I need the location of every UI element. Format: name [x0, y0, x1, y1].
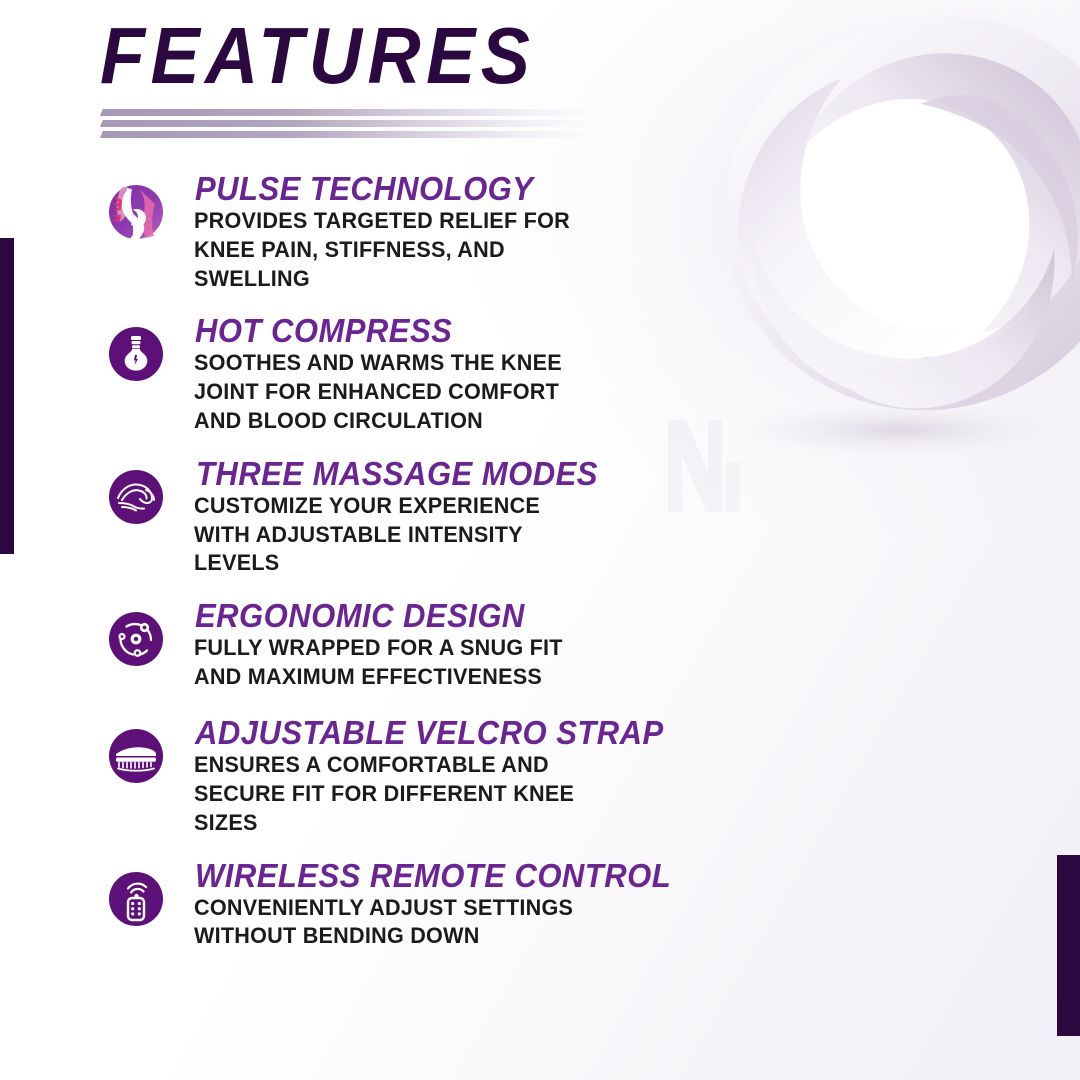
feature-text: ADJUSTABLE VELCRO STRAP ENSURES A COMFOR… — [194, 716, 746, 837]
feature-body: ENSURES A COMFORTABLE AND SECURE FIT FOR… — [194, 751, 597, 837]
knee-joint-icon — [106, 182, 166, 242]
feature-heading: PULSE TECHNOLOGY — [195, 172, 713, 205]
hot-water-bottle-icon — [106, 324, 166, 384]
feature-list: PULSE TECHNOLOGY PROVIDES TARGETED RELIE… — [106, 172, 746, 976]
left-accent-bar — [0, 238, 14, 554]
feature-item: THREE MASSAGE MODES CUSTOMIZE YOUR EXPER… — [106, 457, 746, 578]
page-header: FEATURES — [100, 18, 660, 143]
feature-body: CUSTOMIZE YOUR EXPERIENCE WITH ADJUSTABL… — [194, 492, 597, 578]
feature-body: SOOTHES AND WARMS THE KNEE JOINT FOR ENH… — [194, 349, 597, 435]
right-accent-bar — [1057, 855, 1080, 1036]
feature-text: HOT COMPRESS SOOTHES AND WARMS THE KNEE … — [194, 314, 746, 435]
feature-heading: THREE MASSAGE MODES — [196, 457, 713, 490]
feature-text: ERGONOMIC DESIGN FULLY WRAPPED FOR A SNU… — [194, 599, 746, 692]
feature-text: PULSE TECHNOLOGY PROVIDES TARGETED RELIE… — [194, 172, 746, 293]
feature-item: HOT COMPRESS SOOTHES AND WARMS THE KNEE … — [106, 314, 746, 435]
page-title: FEATURES — [100, 18, 615, 95]
feature-item: ERGONOMIC DESIGN FULLY WRAPPED FOR A SNU… — [106, 599, 746, 695]
feature-item: PULSE TECHNOLOGY PROVIDES TARGETED RELIE… — [106, 172, 746, 293]
ergonomic-circles-icon — [106, 609, 166, 669]
title-rule-1 — [100, 109, 603, 116]
features-poster: FEATURES — [0, 0, 1080, 1080]
wireless-remote-icon — [106, 869, 166, 929]
feature-heading: WIRELESS REMOTE CONTROL — [195, 859, 713, 892]
feature-body: FULLY WRAPPED FOR A SNUG FIT AND MAXIMUM… — [194, 634, 597, 692]
feature-text: WIRELESS REMOTE CONTROL CONVENIENTLY ADJ… — [194, 859, 746, 952]
title-rule-3 — [100, 131, 603, 138]
velcro-strap-icon — [106, 726, 166, 786]
feature-body: PROVIDES TARGETED RELIEF FOR KNEE PAIN, … — [194, 207, 597, 293]
feature-item: WIRELESS REMOTE CONTROL CONVENIENTLY ADJ… — [106, 859, 746, 955]
feature-heading: HOT COMPRESS — [195, 314, 713, 347]
feature-item: ADJUSTABLE VELCRO STRAP ENSURES A COMFOR… — [106, 716, 746, 837]
massage-hand-icon — [106, 467, 166, 527]
feature-body: CONVENIENTLY ADJUST SETTINGS WITHOUT BEN… — [194, 894, 597, 952]
feature-text: THREE MASSAGE MODES CUSTOMIZE YOUR EXPER… — [194, 457, 746, 578]
feature-heading: ERGONOMIC DESIGN — [195, 599, 713, 632]
title-underline-rules — [100, 109, 600, 143]
feature-heading: ADJUSTABLE VELCRO STRAP — [195, 716, 713, 749]
title-rule-2 — [100, 120, 603, 127]
